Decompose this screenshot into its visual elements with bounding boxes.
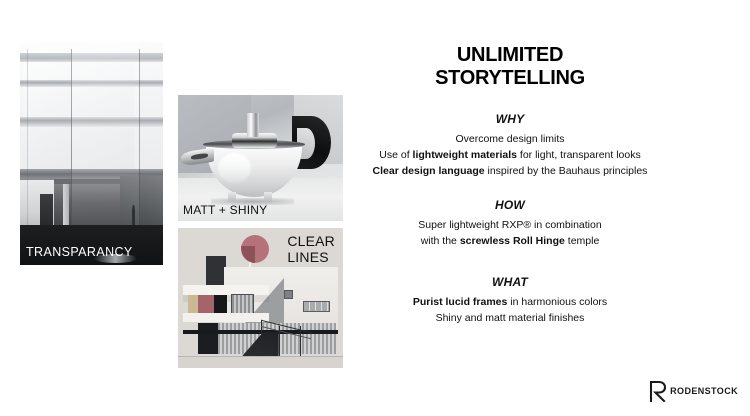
transparency-column [63, 180, 69, 225]
section-what: WHAT Purist lucid frames in harmonious c… [370, 275, 650, 327]
section-why: WHY Overcome design limits Use of lightw… [370, 112, 650, 180]
transparency-mullion-left [27, 49, 28, 239]
how-line2-plain-before: with the [421, 235, 460, 247]
section-how-line-1: Super lightweight RXP® in combination [370, 218, 650, 234]
what-line2-plain-before: Shiny and matt material finishes [436, 312, 585, 324]
teapot-knob [247, 113, 259, 137]
why-line2-plain-after: for light, transparent looks [517, 149, 641, 161]
transparency-mullion-center [71, 49, 72, 239]
transparency-figure [132, 205, 135, 225]
section-what-line-1: Purist lucid frames in harmonious colors [370, 295, 650, 311]
section-what-line-2: Shiny and matt material finishes [370, 311, 650, 327]
teapot-foot-left [228, 192, 236, 202]
bauhaus-balcony-lower [183, 313, 269, 321]
bauhaus-red-panel [198, 295, 215, 315]
brand-logo-text: RODENSTOCK [670, 386, 738, 396]
bauhaus-circle-shadow [241, 246, 255, 263]
transparency-mullion-right [139, 49, 140, 239]
what-line1-bold: Purist lucid frames [413, 296, 508, 308]
transparency-soffit [54, 179, 126, 184]
slide-title: UNLIMITED STORYTELLING [390, 44, 630, 90]
r-monogram-icon [649, 380, 667, 402]
presentation-slide: TRANSPARANCY MATT + SHINY [0, 0, 750, 416]
bauhaus-window-striped [231, 294, 254, 315]
caption-matt-shiny: MATT + SHINY [183, 203, 267, 217]
bauhaus-black-wedge [214, 295, 227, 315]
why-line1-plain-before: Overcome design limits [455, 133, 564, 145]
section-what-heading: WHAT [370, 275, 650, 289]
transparency-ceiling-slab [20, 53, 163, 62]
bauhaus-balcony-upper [183, 285, 269, 295]
transparency-glass-volume [23, 51, 135, 171]
bauhaus-window-small [284, 290, 294, 300]
section-why-heading: WHY [370, 112, 650, 126]
why-line3-plain-after: inspired by the Bauhaus principles [485, 165, 648, 177]
brand-logo: RODENSTOCK [649, 380, 738, 402]
section-why-line-3: Clear design language inspired by the Ba… [370, 164, 650, 180]
caption-clear-lines: CLEAR LINES [287, 234, 335, 265]
why-line2-bold: lightweight materials [413, 149, 517, 161]
bauhaus-beige-panel [188, 295, 198, 315]
bauhaus-ground-plane [178, 356, 343, 368]
caption-transparency: TRANSPARANCY [26, 245, 133, 259]
teapot-bowl-highlight [218, 153, 251, 183]
section-how-line-2: with the screwless Roll Hinge temple [370, 234, 650, 250]
transparency-floor-slab-lower [20, 117, 163, 127]
why-line3-bold: Clear design language [373, 165, 485, 177]
teapot-foot-right [264, 192, 272, 202]
section-how-heading: HOW [370, 198, 650, 212]
bauhaus-post-right [300, 326, 301, 357]
image-transparency: TRANSPARANCY [20, 42, 163, 265]
bauhaus-lower-dark-block [198, 323, 218, 354]
image-clear-lines: CLEAR LINES [178, 228, 343, 368]
how-line2-bold: screwless Roll Hinge [460, 235, 565, 247]
how-line2-plain-after: temple [565, 235, 599, 247]
section-how: HOW Super lightweight RXP® in combinatio… [370, 198, 650, 250]
bauhaus-post-left [279, 326, 280, 357]
why-line2-plain-before: Use of [379, 149, 412, 161]
caption-clear-lines-line2: LINES [287, 250, 335, 266]
section-why-line-1: Overcome design limits [370, 132, 650, 148]
bauhaus-window-wide [303, 301, 329, 312]
what-line1-plain-after: in harmonious colors [507, 296, 607, 308]
how-line1-plain-before: Super lightweight RXP® in combination [418, 219, 601, 231]
image-matt-shiny: MATT + SHINY [178, 95, 343, 221]
section-why-line-2: Use of lightweight materials for light, … [370, 148, 650, 164]
transparency-floor-slab-upper [20, 80, 163, 88]
caption-clear-lines-line1: CLEAR [287, 234, 335, 250]
